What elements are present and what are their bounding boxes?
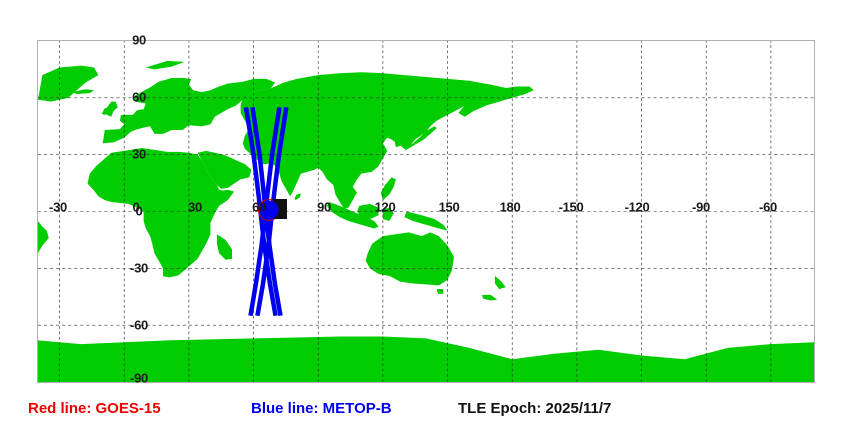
lon-tick-label-120: 120 (375, 201, 396, 214)
lon-tick-label-30: 30 (188, 201, 202, 214)
lon-tick-label-90: 90 (317, 201, 331, 214)
lon-tick-label-180: 180 (500, 201, 521, 214)
legend-bar: Red line: GOES-15 Blue line: METOP-B TLE… (0, 392, 850, 425)
lat-tick-label--60: -60 (130, 319, 148, 332)
legend-tle-epoch: TLE Epoch: 2025/11/7 (458, 401, 611, 416)
legend-goes15: Red line: GOES-15 (28, 401, 161, 416)
lat-tick-label--90: -90 (130, 372, 148, 385)
lon-tick-label--150: -150 (559, 201, 584, 214)
lon-tick-label-0: 0 (133, 201, 140, 214)
world-map-figure: 90 60 30 0 -30 -60 -90 -30 0 30 60 90 12… (0, 0, 850, 392)
lon-tick-label-60: 60 (252, 201, 266, 214)
lon-tick-label--120: -120 (625, 201, 650, 214)
lat-tick-label-90: 90 (132, 34, 146, 47)
legend-metopb: Blue line: METOP-B (251, 401, 392, 416)
lat-tick-label-30: 30 (132, 148, 146, 161)
lon-tick-label--30: -30 (49, 201, 67, 214)
lon-tick-label--60: -60 (759, 201, 777, 214)
lat-tick-label--30: -30 (130, 262, 148, 275)
lat-tick-label-60: 60 (132, 91, 146, 104)
lon-tick-label--90: -90 (692, 201, 710, 214)
lon-tick-label-150: 150 (439, 201, 460, 214)
